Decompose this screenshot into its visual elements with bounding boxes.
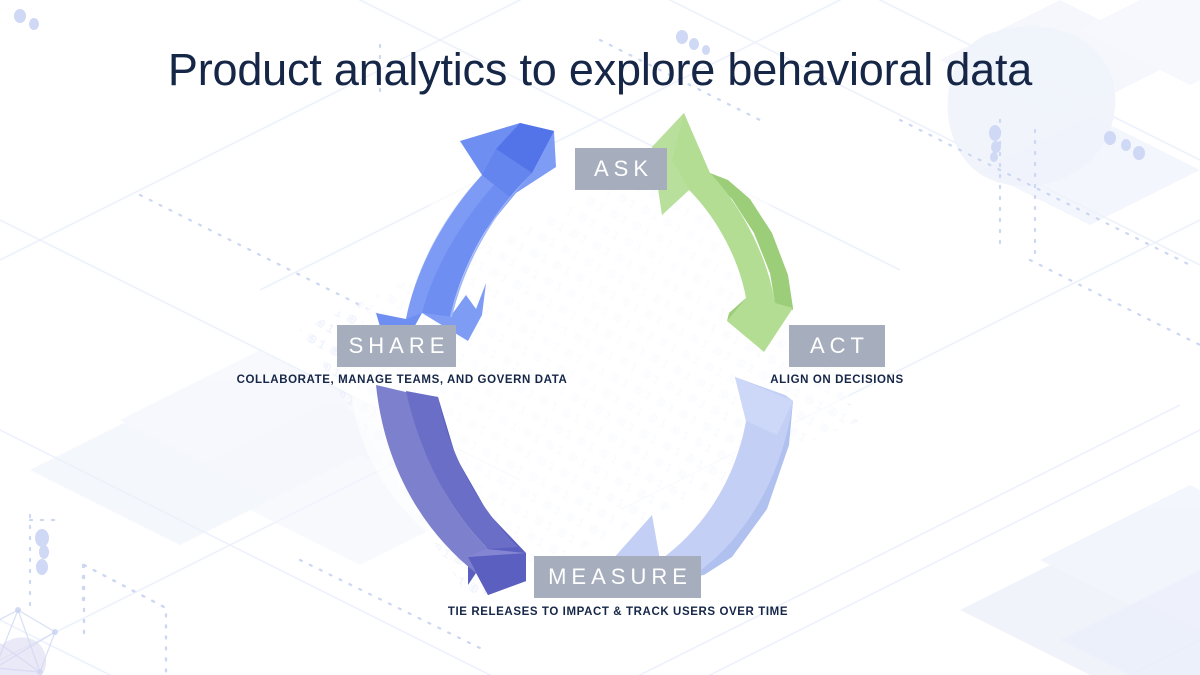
slide-canvas: 1 0 8 1 (0, 0, 1200, 675)
arrow-act (652, 113, 793, 352)
stage-label-act[interactable]: ACT (789, 325, 885, 367)
stage-label-ask[interactable]: ASK (575, 148, 667, 190)
page-title: Product analytics to explore behavioral … (0, 44, 1200, 96)
stage-label-share[interactable]: SHARE (337, 325, 456, 367)
stage-subtitle-measure: TIE RELEASES TO IMPACT & TRACK USERS OVE… (418, 606, 818, 618)
stage-label-measure[interactable]: MEASURE (534, 556, 701, 598)
stage-subtitle-act: ALIGN ON DECISIONS (689, 374, 985, 386)
arrow-measure (612, 377, 793, 581)
stage-subtitle-share: COLLABORATE, MANAGE TEAMS, AND GOVERN DA… (226, 374, 578, 386)
arrow-share (376, 385, 526, 595)
